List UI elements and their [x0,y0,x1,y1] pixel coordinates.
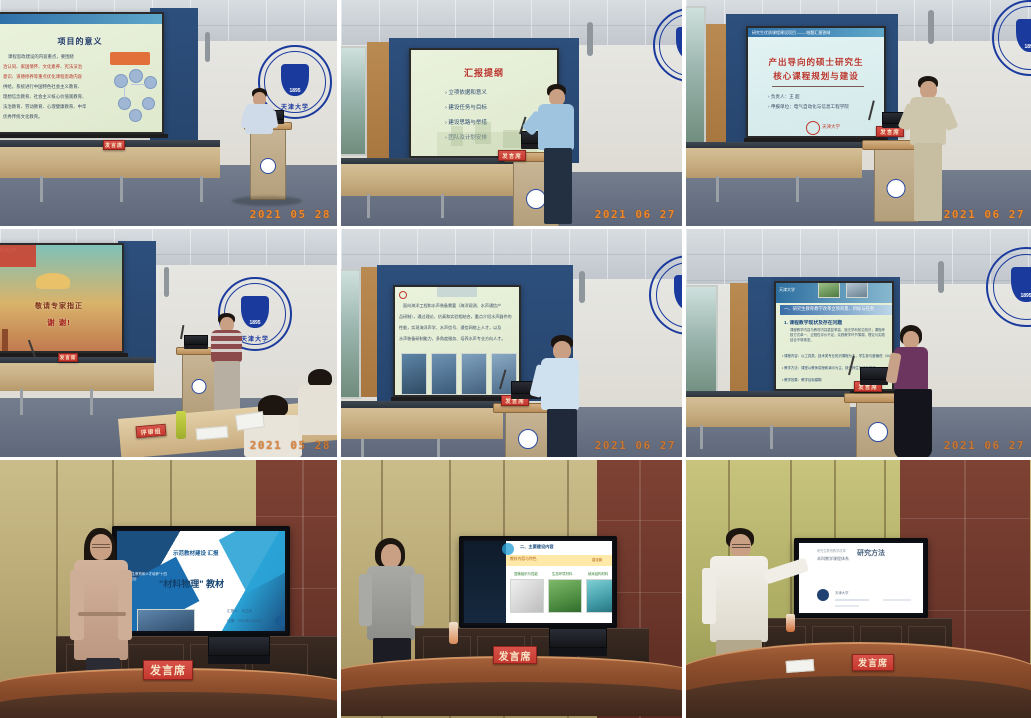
wall-speaker [928,10,934,44]
slide-body-line: 理想信念教育、社会主义核心价值观教育、 [3,94,86,100]
slide-thumbnail [548,579,582,613]
glasses-icon [732,544,750,548]
wall-speaker [587,22,593,56]
photo-cell-1: 项目的意义 课程思政建设的内容重点，要围绕 治认同、家国情怀、文化素养、宪法法治… [0,0,341,229]
water-bottle [786,614,795,632]
laptop [208,636,270,664]
belt [78,612,126,616]
nameplate: 发言席 [852,654,894,671]
thumb-label: 纳米结构材料 [588,571,608,576]
lectern [505,411,551,457]
slide-header-small: 研究生教育教学改革 [817,548,846,553]
seal-year: 1895 [994,44,1031,50]
slide-banner: 研究生优质课程建设项目 —— 结题汇报答辩 [748,28,884,37]
photo-cell-3: 研究生优质课程建设项目 —— 结题汇报答辩 产出导向的硕士研究生 核心课程规划与… [686,0,1031,229]
window [686,285,718,399]
lectern [250,128,286,200]
wood-panel [730,283,748,403]
slide-section: 一、研究生教育教学改革立项背景、目标与任务 [784,306,874,312]
table-front [341,682,682,716]
slide-paragraph: 课程教学内容与教材内容重复率高，缺乏学科前沿知识；课程考核方式单一，过程性评价不… [790,328,888,343]
tv-display: 示范教材建设 汇报 研究生教育和人才培养"十四五"规划 "材料物理" 教材 汇报… [112,526,290,636]
slide-logo-caption: 天津大学 [835,590,849,595]
date-stamp: 2021 05 28 [250,208,331,221]
slide-title-line2: 核心课程规划与建设 [748,70,884,82]
projection-screen: 研究生优质课程建设项目 —— 结题汇报答辩 产出导向的硕士研究生 核心课程规划与… [746,26,886,138]
photo-1-lecture-hall: 项目的意义 课程思政建设的内容重点，要围绕 治认同、家国情怀、文化素养、宪法法治… [0,0,337,226]
photo-6-lecture-hall: 天津大学 一、研究生教育教学改革立项背景、目标与任务 1. 课程教学现状及存在问… [686,229,1031,457]
photo-8-boardroom: 二、主要建设内容 教材内容与特色 建设篇 显微组织与性能 生态环境材料 纳米结构… [341,460,682,718]
slide-body-line: 水声装备研制能力，多角度服务、培养水声专业方向人才。 [399,336,505,342]
seal-year: 1895 [988,293,1031,299]
slide-banner: 示范教材建设 汇报 [173,549,219,557]
slide-header: 二、主要建设内容 [520,544,554,550]
slide-thumbnail [431,353,457,395]
slide-meta: › 申报单位：电气自动化与信息工程学院 [768,104,849,110]
slide-thumbnail [510,579,544,613]
photo-7-boardroom: 示范教材建设 汇报 研究生教育和人才培养"十四五"规划 "材料物理" 教材 汇报… [0,460,337,718]
photo-cell-6: 天津大学 一、研究生教育教学改革立项背景、目标与任务 1. 课程教学现状及存在问… [686,229,1031,460]
slide-thumbnail [401,353,427,395]
projection-screen: 项目的意义 课程思政建设的内容重点，要围绕 治认同、家国情怀、文化素养、宪法法治… [0,12,164,134]
photo-2-lecture-hall: 汇报提纲 › 立项依据和意义 › 建设任务与目标 › 建设思路与举措 › 团队及… [341,0,682,226]
photo-9-boardroom: 研究生教育教学改革 本科教学课程体系 研究方法 天津大学 [686,460,1031,718]
slide-body-line: 意识、道德修养等重点优化课程思政内容 [3,74,82,80]
slide-title-line1: 产出导向的硕士研究生 [748,56,884,68]
laptop [184,335,208,349]
photo-cell-4: 天津大学 敬请专家指正 谢 谢! 1895 天津大学 发言席 [0,229,341,460]
slide-callout-box [110,52,150,65]
wall-speaker [938,261,944,293]
nameplate: 发言席 [103,140,125,150]
lectern [874,148,918,222]
photo-3-lecture-hall: 研究生优质课程建设项目 —— 结题汇报答辩 产出导向的硕士研究生 核心课程规划与… [686,0,1031,226]
wall-speaker [164,267,169,297]
slide-band-label: 教材内容与特色 [510,557,537,562]
table-front [686,676,1031,718]
slide-body-line: 性能，实现海洋声学、水声信号、通信网络上人才，以及 [399,325,501,331]
photo-5-lecture-hall: 面向海洋工程和水声装备需要（海洋观测、水声通信产 品研制），通过理论、仿真和实验… [341,229,682,457]
tv-screen: 示范教材建设 汇报 研究生教育和人才培养"十四五"规划 "材料物理" 教材 汇报… [117,531,285,631]
slide-body-line: 法治教育、劳动教育、心理健康教育、中华 [3,104,86,110]
date-stamp: 2021 06 27 [944,208,1025,221]
slide-footer-logo: 天津大学 [822,124,840,130]
slide-title: 项目的意义 [0,36,162,47]
slide-thumbnail [461,353,487,395]
slide-title: 研究方法 [857,548,885,558]
slide-body-line: 优秀传统文化教育。 [3,114,43,120]
photo-cell-8: 二、主要建设内容 教材内容与特色 建设篇 显微组织与性能 生态环境材料 纳米结构… [341,460,686,718]
date-stamp: 2021 05 28 [250,439,331,452]
slide-banner: 天津大学 [779,287,795,293]
photo-collage: 项目的意义 课程思政建设的内容重点，要围绕 治认同、家国情怀、文化素养、宪法法治… [0,0,1031,718]
window [341,269,361,399]
slide-title: 汇报提纲 [411,66,557,79]
thumb-label: 显微组织与性能 [514,571,538,576]
slide-header-line: 本科教学课程体系 [817,556,849,562]
thumb-label: 生态环境材料 [552,571,572,576]
slide-bullet: › 立项依据和意义 [445,88,487,96]
date-stamp: 2021 06 27 [595,439,676,452]
glasses-icon [92,544,110,548]
wall-speaker [579,271,585,303]
paper [786,659,815,673]
date-stamp: 2021 06 27 [595,208,676,221]
seal-year: 1895 [651,301,682,307]
laptop [860,367,888,385]
lectern [182,353,216,415]
window [686,6,706,146]
tv-screen: 研究生教育教学改革 本科教学课程体系 研究方法 天津大学 [799,543,923,613]
tv-display: 二、主要建设内容 教材内容与特色 建设篇 显微组织与性能 生态环境材料 纳米结构… [459,536,617,628]
seal-year: 1895 [260,88,330,94]
tv-display: 研究生教育教学改革 本科教学课程体系 研究方法 天津大学 [794,538,928,618]
date-stamp: 2021 06 27 [944,439,1025,452]
slide-bullet: › 建设任务与目标 [445,103,487,111]
wall-speaker [205,32,210,62]
slide-body-line: 面向海洋工程和水声装备需要（海洋观测、水声通信产 [403,303,501,309]
slide-body-line: 品研制），通过理论、仿真和实验相结合，重点介绍水声器件的 [399,314,512,320]
slide-thank-line2: 谢 谢! [0,317,122,328]
wood-panel [367,42,389,160]
slide-title: "材料物理" 教材 [159,577,224,590]
slide-bullet: • 教学效果：教学目标模糊 [782,377,821,382]
projection-screen: 天津大学 敬请专家指正 谢 谢! [0,243,124,353]
photo-cell-9: 研究生教育教学改革 本科教学课程体系 研究方法 天津大学 [686,460,1031,718]
slide-bullet: • 课程内容：以工具类、技术类专业知识课程为主，学生参与度偏低（44~50分） [782,353,894,358]
slide-presenter: 汇报人：马卫兵 [227,609,252,614]
slide-thumbnail [586,579,612,613]
slide-heading: 1. 课程教学现状及存在问题 [784,319,842,326]
photo-cell-5: 面向海洋工程和水声装备需要（海洋观测、水声通信产 品研制），通过理论、仿真和实验… [341,229,686,460]
nameplate: 发言席 [493,646,537,664]
water-bottle [449,622,458,644]
slide-band-right: 建设篇 [592,557,602,562]
slide-body-line: 治认同、家国情怀、文化素养、宪法法治 [3,64,82,70]
slide-date: 日期：2021年5月28日 [227,619,263,624]
window [341,46,367,156]
photo-cell-7: 示范教材建设 汇报 研究生教育和人才培养"十四五"规划 "材料物理" 教材 汇报… [0,460,341,718]
laptop [549,628,607,656]
nameplate: 发言席 [498,150,526,161]
seal-year: 1895 [655,51,682,57]
slide-meta: › 负责人：王 超 [768,94,800,100]
wood-panel [361,267,377,397]
photo-4-lecture-hall: 天津大学 敬请专家指正 谢 谢! 1895 天津大学 发言席 [0,229,337,457]
nameplate: 发言席 [143,660,193,680]
water-bottle [176,411,186,439]
slide-body-line: 供给，系统进行中国特色社会主义教育、 [3,84,82,90]
photo-cell-2: 汇报提纲 › 立项依据和意义 › 建设任务与目标 › 建设思路与举措 › 团队及… [341,0,686,229]
slide-body-line: 课程思政建设的内容重点，要围绕 [8,54,74,60]
wood-panel [706,24,726,144]
slide-thank-line1: 敬请专家指正 [0,301,122,311]
table-front [0,692,337,718]
nameplate: 发言席 [58,353,78,362]
tv-screen: 二、主要建设内容 教材内容与特色 建设篇 显微组织与性能 生态环境材料 纳米结构… [464,541,612,623]
